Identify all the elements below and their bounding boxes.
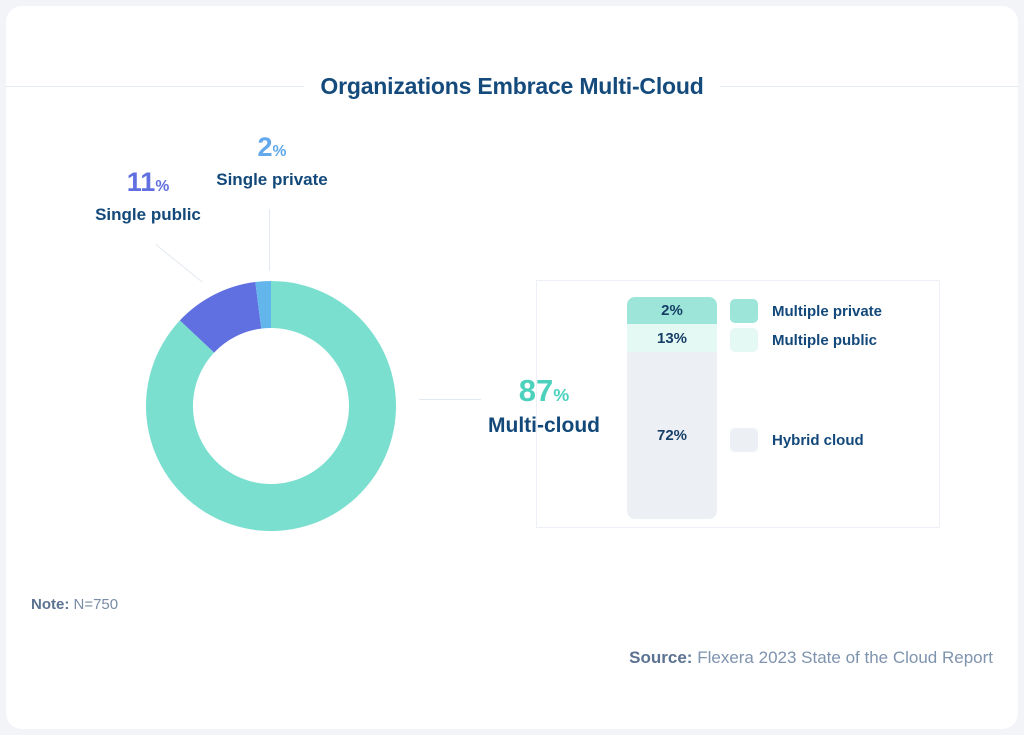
leader-line-single-public [155,244,202,283]
legend-item-multiple-private: Multiple private [730,299,882,323]
callout-single-private-value: 2% [202,134,342,161]
source-value: Flexera 2023 State of the Cloud Report [697,648,993,667]
page-title: Organizations Embrace Multi-Cloud [6,66,1018,106]
callout-single-public-value: 11% [78,169,218,196]
stacked-bar: 2% 13% 72% [627,297,717,519]
note: Note: N=750 [31,596,118,613]
legend-item-hybrid-cloud: Hybrid cloud [730,428,864,452]
title-rule-right [720,86,1018,87]
bar-segment-multiple-private: 2% [627,297,717,324]
note-value: N=750 [74,596,119,613]
legend-swatch-multiple-public [730,328,758,352]
legend-label-hybrid-cloud: Hybrid cloud [772,432,864,449]
callout-single-private: 2% Single private [202,134,342,190]
title-text: Organizations Embrace Multi-Cloud [320,73,703,100]
note-label: Note: [31,596,69,613]
bar-segment-multiple-public: 13% [627,324,717,352]
leader-line-single-private [269,209,270,271]
legend-label-multiple-private: Multiple private [772,303,882,320]
callout-single-public: 11% Single public [78,169,218,225]
title-rule-left [6,86,304,87]
legend-swatch-hybrid-cloud [730,428,758,452]
donut-chart [143,278,399,534]
callout-single-private-label: Single private [202,170,342,190]
bar-segment-hybrid-cloud: 72% [627,352,717,519]
source: Source: Flexera 2023 State of the Cloud … [629,648,993,668]
percent-symbol: % [273,143,287,160]
callout-single-public-label: Single public [78,205,218,225]
source-label: Source: [629,648,692,667]
percent-symbol: % [155,178,169,195]
infographic-card: Organizations Embrace Multi-Cloud 2% Sin… [6,6,1018,729]
legend-swatch-multiple-private [730,299,758,323]
breakdown-panel: 2% 13% 72% Multiple private Multiple pub… [536,280,940,528]
legend-item-multiple-public: Multiple public [730,328,877,352]
legend-label-multiple-public: Multiple public [772,332,877,349]
donut-chart-svg [143,278,399,534]
